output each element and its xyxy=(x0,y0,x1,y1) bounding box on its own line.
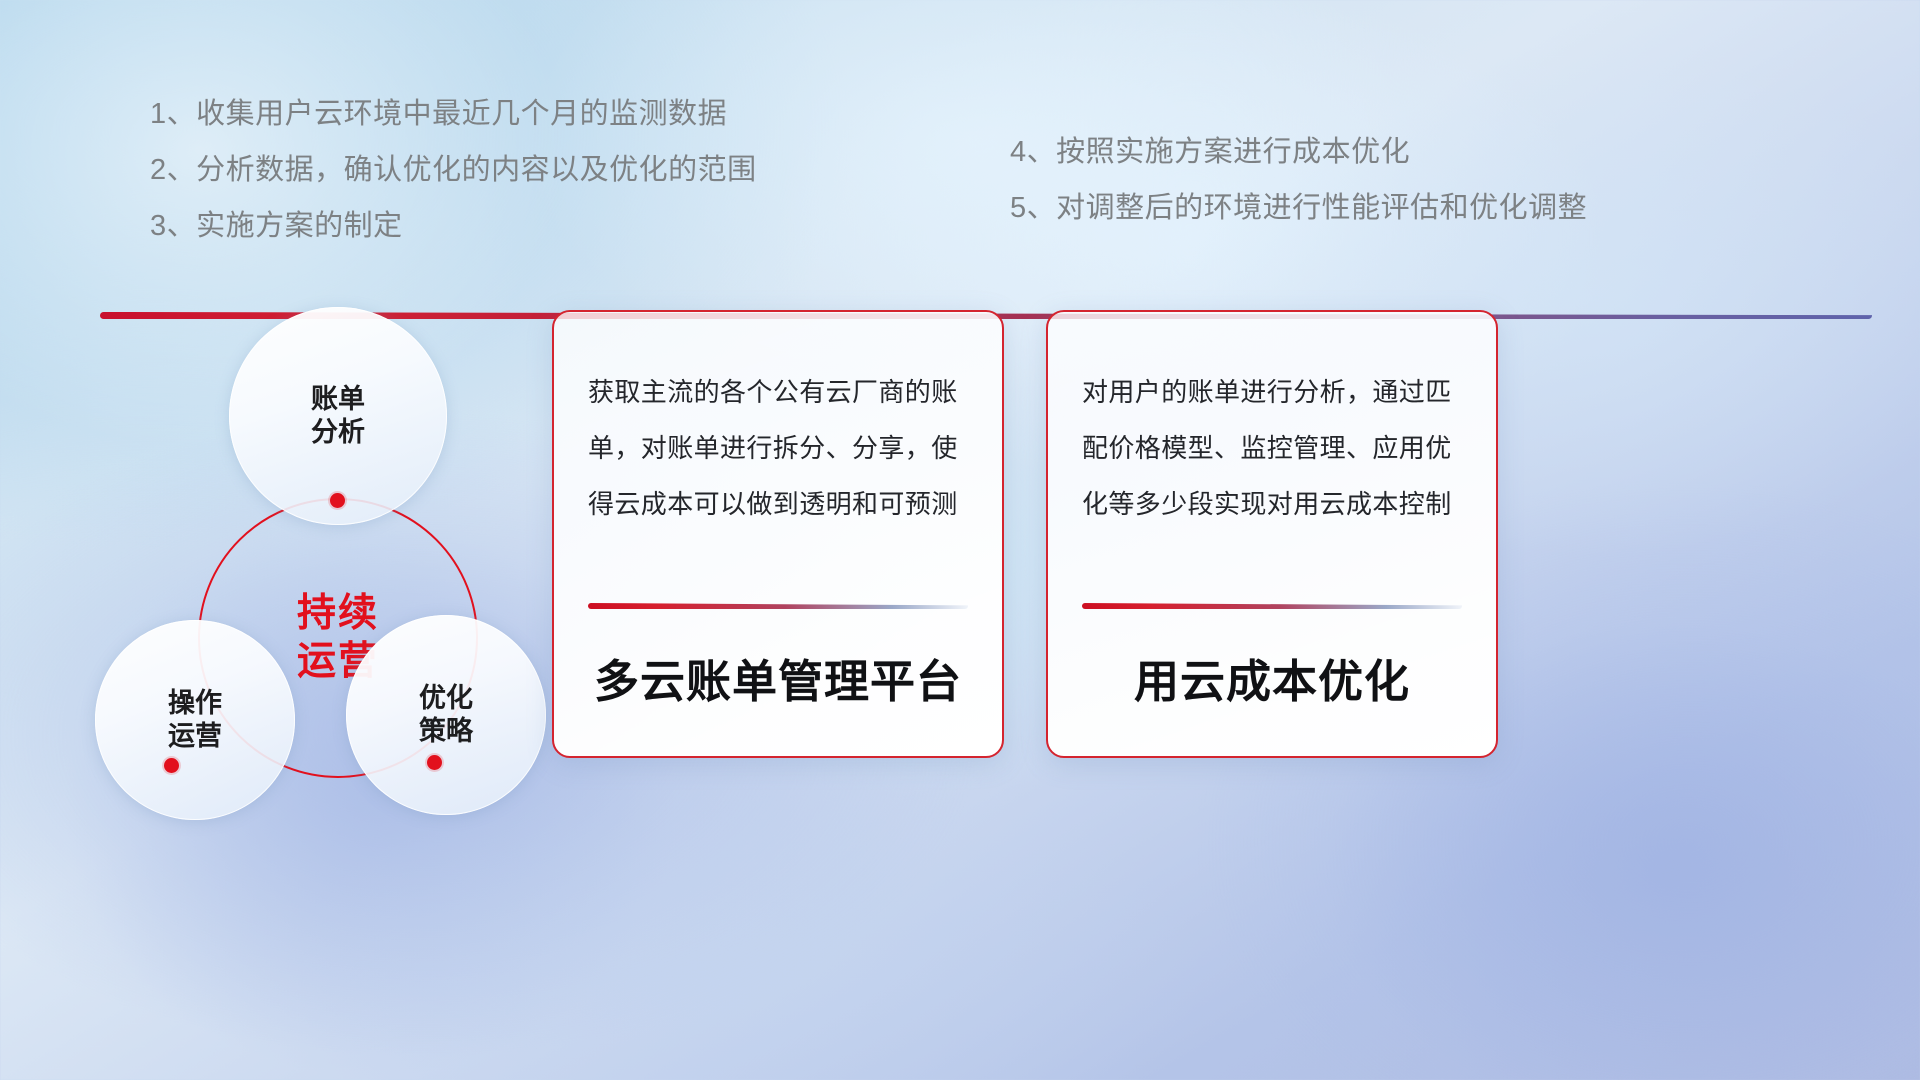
step-item-1: 1、收集用户云环境中最近几个月的监测数据 xyxy=(150,86,757,142)
step-item-2: 2、分析数据，确认优化的内容以及优化的范围 xyxy=(150,142,757,198)
card-1-body-text: 获取主流的各个公有云厂商的账单，对账单进行拆分、分享，使得云成本可以做到透明和可… xyxy=(588,364,968,532)
diagram-node-dot-bottom-left xyxy=(164,758,179,773)
venn-diagram: 持续 运营 账单 分析 操作 运营 优化 策略 xyxy=(88,330,568,910)
card-cloud-cost-optimization[interactable]: 对用户的账单进行分析，通过匹配价格模型、监控管理、应用优化等多少段实现对用云成本… xyxy=(1046,310,1498,758)
diagram-bubble-optimization-strategy[interactable]: 优化 策略 xyxy=(346,615,546,815)
bubble-top-line-2: 分析 xyxy=(311,416,365,449)
card-1-accent-rule xyxy=(588,603,968,609)
bubble-top-line-1: 账单 xyxy=(311,383,365,416)
card-2-accent-rule xyxy=(1082,603,1462,609)
diagram-node-dot-bottom-right xyxy=(427,755,442,770)
step-item-3: 3、实施方案的制定 xyxy=(150,198,757,254)
steps-left-column: 1、收集用户云环境中最近几个月的监测数据 2、分析数据，确认优化的内容以及优化的… xyxy=(150,86,757,254)
card-2-title: 用云成本优化 xyxy=(1082,609,1462,756)
center-label-line-1: 持续 xyxy=(297,590,379,638)
steps-right-column: 4、按照实施方案进行成本优化 5、对调整后的环境进行性能评估和优化调整 xyxy=(1010,124,1587,236)
bubble-bottom-left-line-2: 运营 xyxy=(168,720,222,753)
steps-section: 1、收集用户云环境中最近几个月的监测数据 2、分析数据，确认优化的内容以及优化的… xyxy=(0,86,1920,266)
step-item-5: 5、对调整后的环境进行性能评估和优化调整 xyxy=(1010,180,1587,236)
diagram-bubble-operations[interactable]: 操作 运营 xyxy=(95,620,295,820)
bubble-bottom-left-line-1: 操作 xyxy=(168,687,222,720)
bubble-bottom-right-line-1: 优化 xyxy=(419,682,473,715)
card-2-body-text: 对用户的账单进行分析，通过匹配价格模型、监控管理、应用优化等多少段实现对用云成本… xyxy=(1082,364,1462,532)
card-multicloud-billing-platform[interactable]: 获取主流的各个公有云厂商的账单，对账单进行拆分、分享，使得云成本可以做到透明和可… xyxy=(552,310,1004,758)
bubble-bottom-right-line-2: 策略 xyxy=(419,715,473,748)
diagram-node-dot-top xyxy=(330,493,345,508)
step-item-4: 4、按照实施方案进行成本优化 xyxy=(1010,124,1587,180)
card-1-title: 多云账单管理平台 xyxy=(588,609,968,756)
